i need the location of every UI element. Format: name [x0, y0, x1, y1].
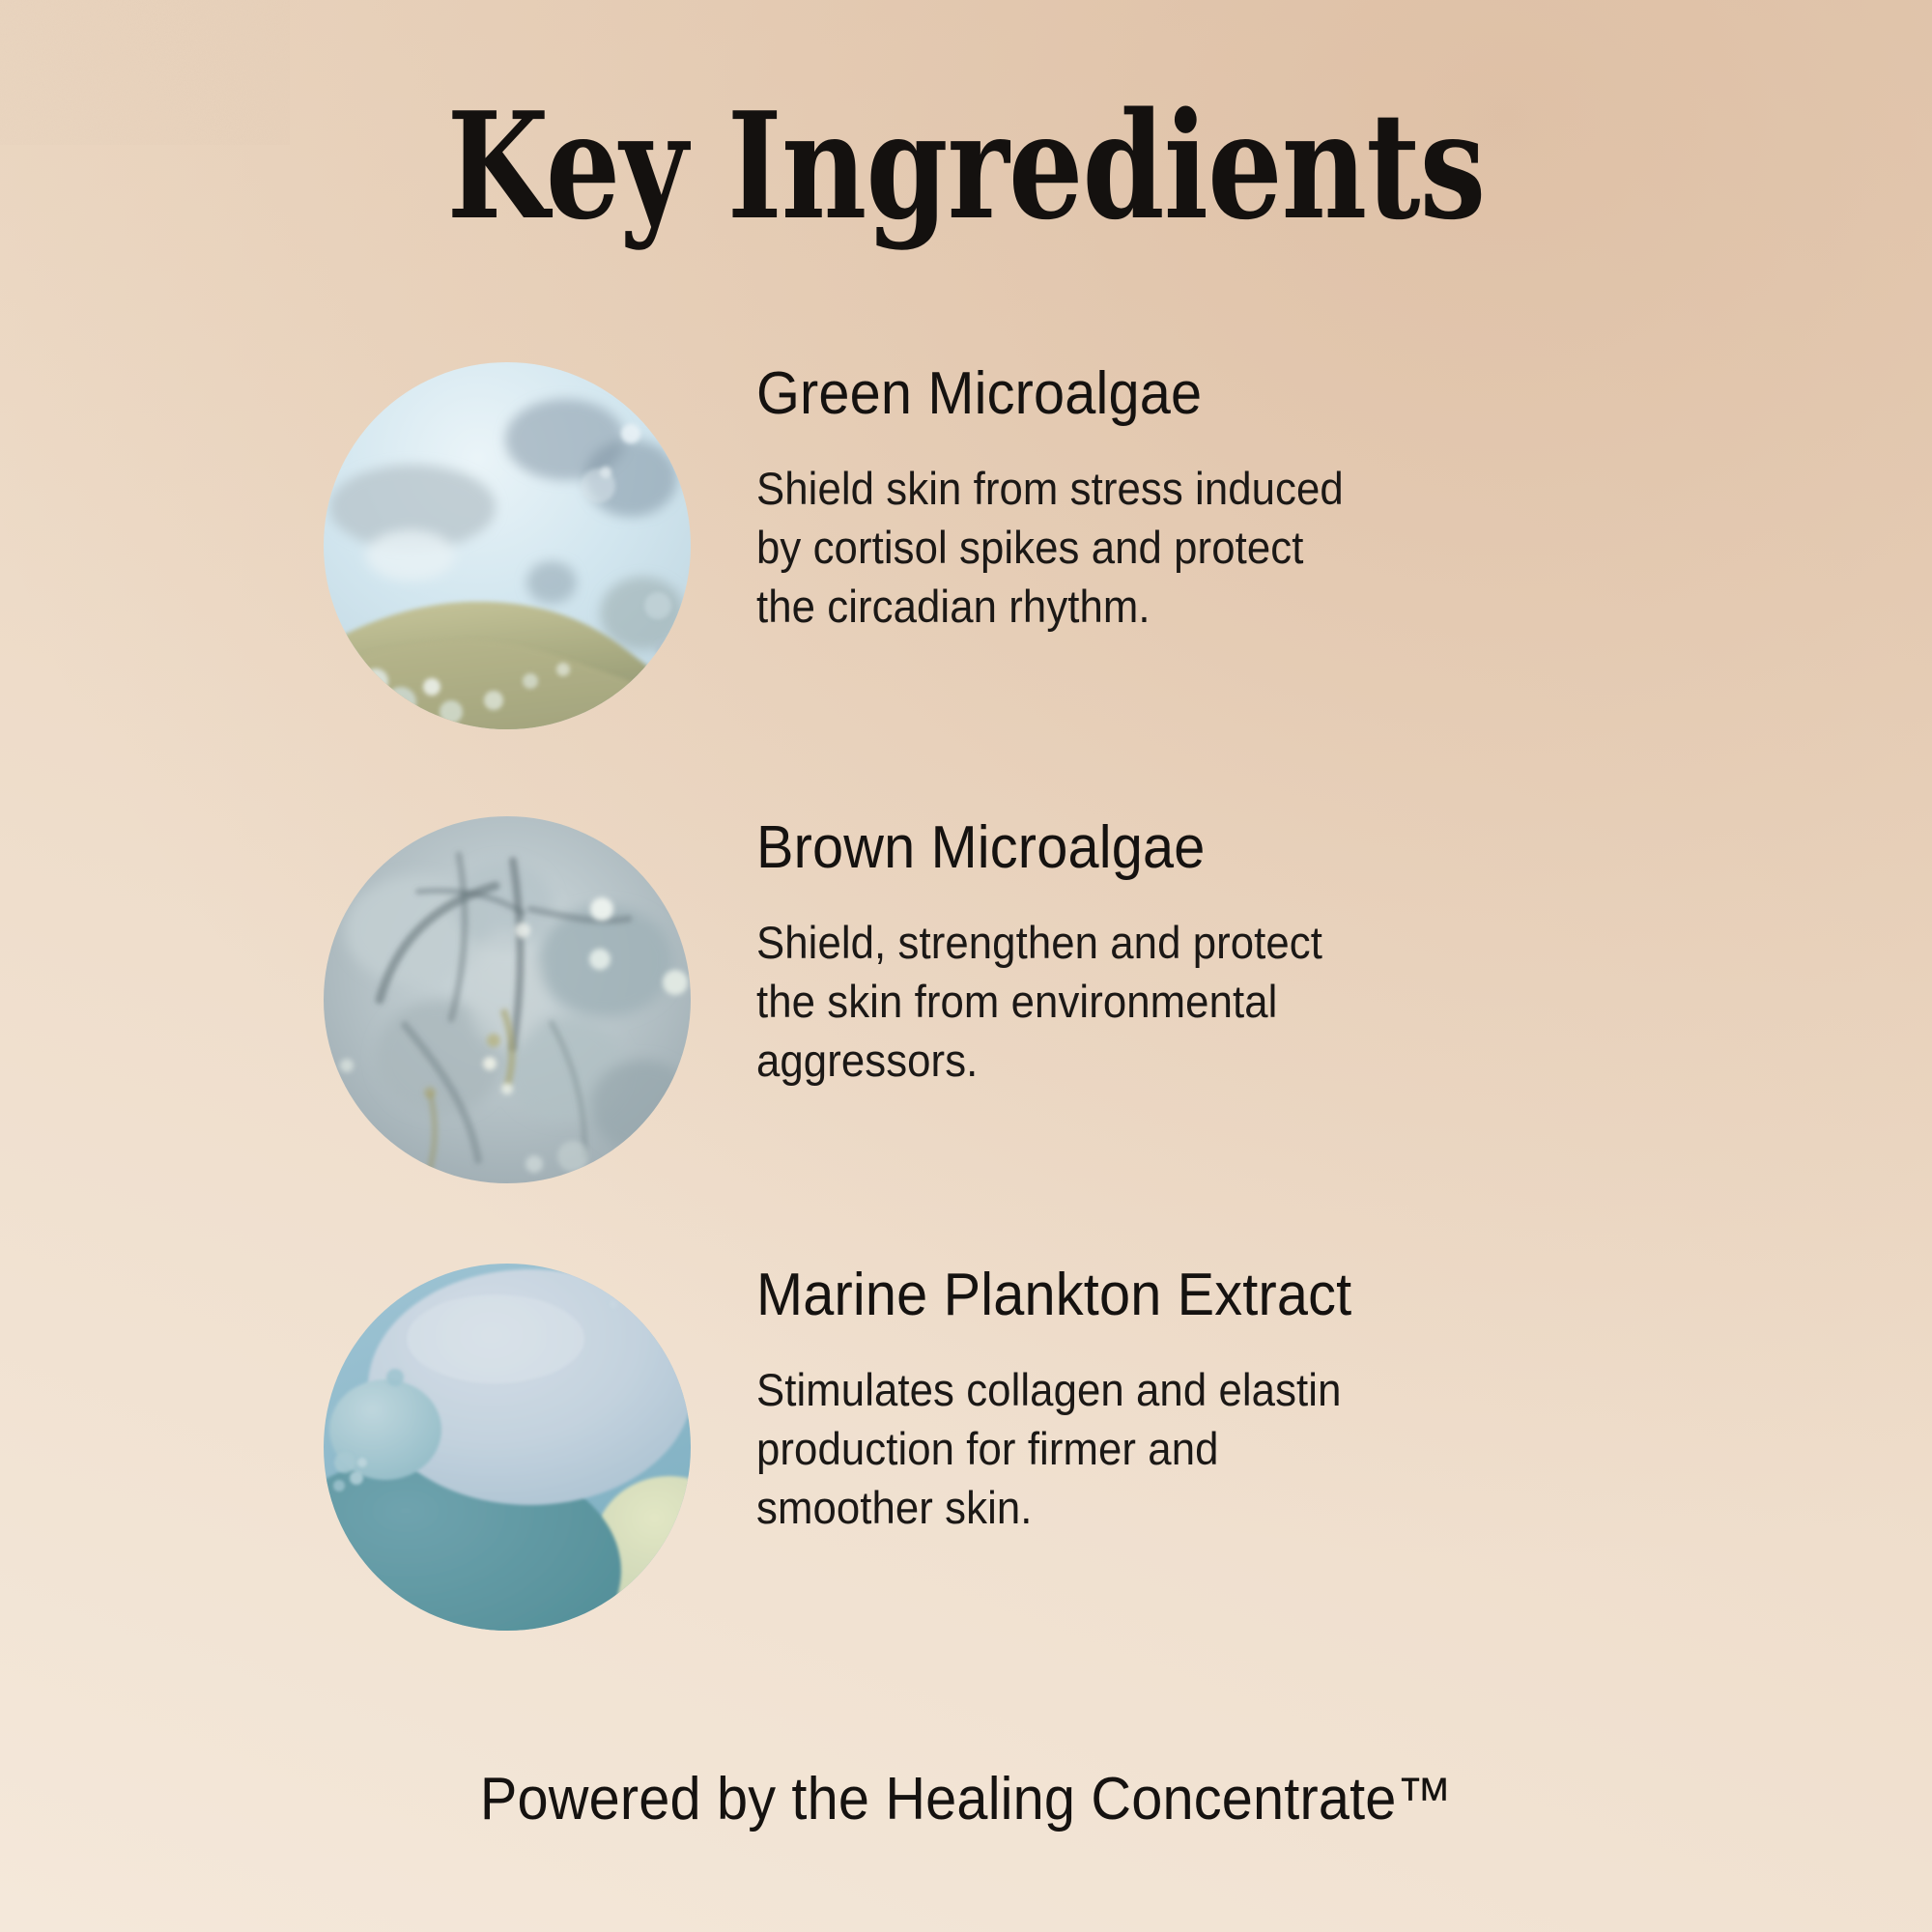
ingredient-copy: Brown Microalgae Shield, strengthen and … [756, 816, 1491, 1090]
footer-tagline: Powered by the Healing Concentrate™ [0, 1765, 1932, 1833]
ingredient-name: Marine Plankton Extract [756, 1264, 1439, 1327]
ingredients-infographic: Key Ingredients [0, 0, 1932, 1932]
page-title: Key Ingredients [193, 93, 1739, 240]
ingredient-thumbnail-marine-plankton-extract [324, 1264, 691, 1631]
description-line: by cortisol spikes and protect [756, 518, 1439, 577]
ingredient-name: Brown Microalgae [756, 816, 1439, 880]
ingredient-copy: Green Microalgae Shield skin from stress… [756, 362, 1491, 636]
ingredient-description: Stimulates collagen and elastin producti… [756, 1360, 1439, 1537]
ingredient-description: Shield skin from stress induced by corti… [756, 459, 1439, 636]
description-line: production for firmer and [756, 1419, 1439, 1478]
footer-tagline-text: Powered by the Healing Concentrate™ [480, 1765, 1453, 1833]
ingredient-name: Green Microalgae [756, 362, 1439, 426]
ingredient-thumbnail-brown-microalgae [324, 816, 691, 1183]
description-line: Shield skin from stress induced [756, 459, 1439, 518]
ingredient-description: Shield, strengthen and protect the skin … [756, 913, 1439, 1090]
ingredient-copy: Marine Plankton Extract Stimulates colla… [756, 1264, 1491, 1537]
ingredient-thumbnail-green-microalgae [324, 362, 691, 729]
description-line: the skin from environmental [756, 972, 1439, 1031]
description-line: Stimulates collagen and elastin [756, 1360, 1439, 1419]
description-line: Shield, strengthen and protect [756, 913, 1439, 972]
description-line: aggressors. [756, 1031, 1439, 1090]
description-line: the circadian rhythm. [756, 577, 1439, 636]
description-line: smoother skin. [756, 1478, 1439, 1537]
